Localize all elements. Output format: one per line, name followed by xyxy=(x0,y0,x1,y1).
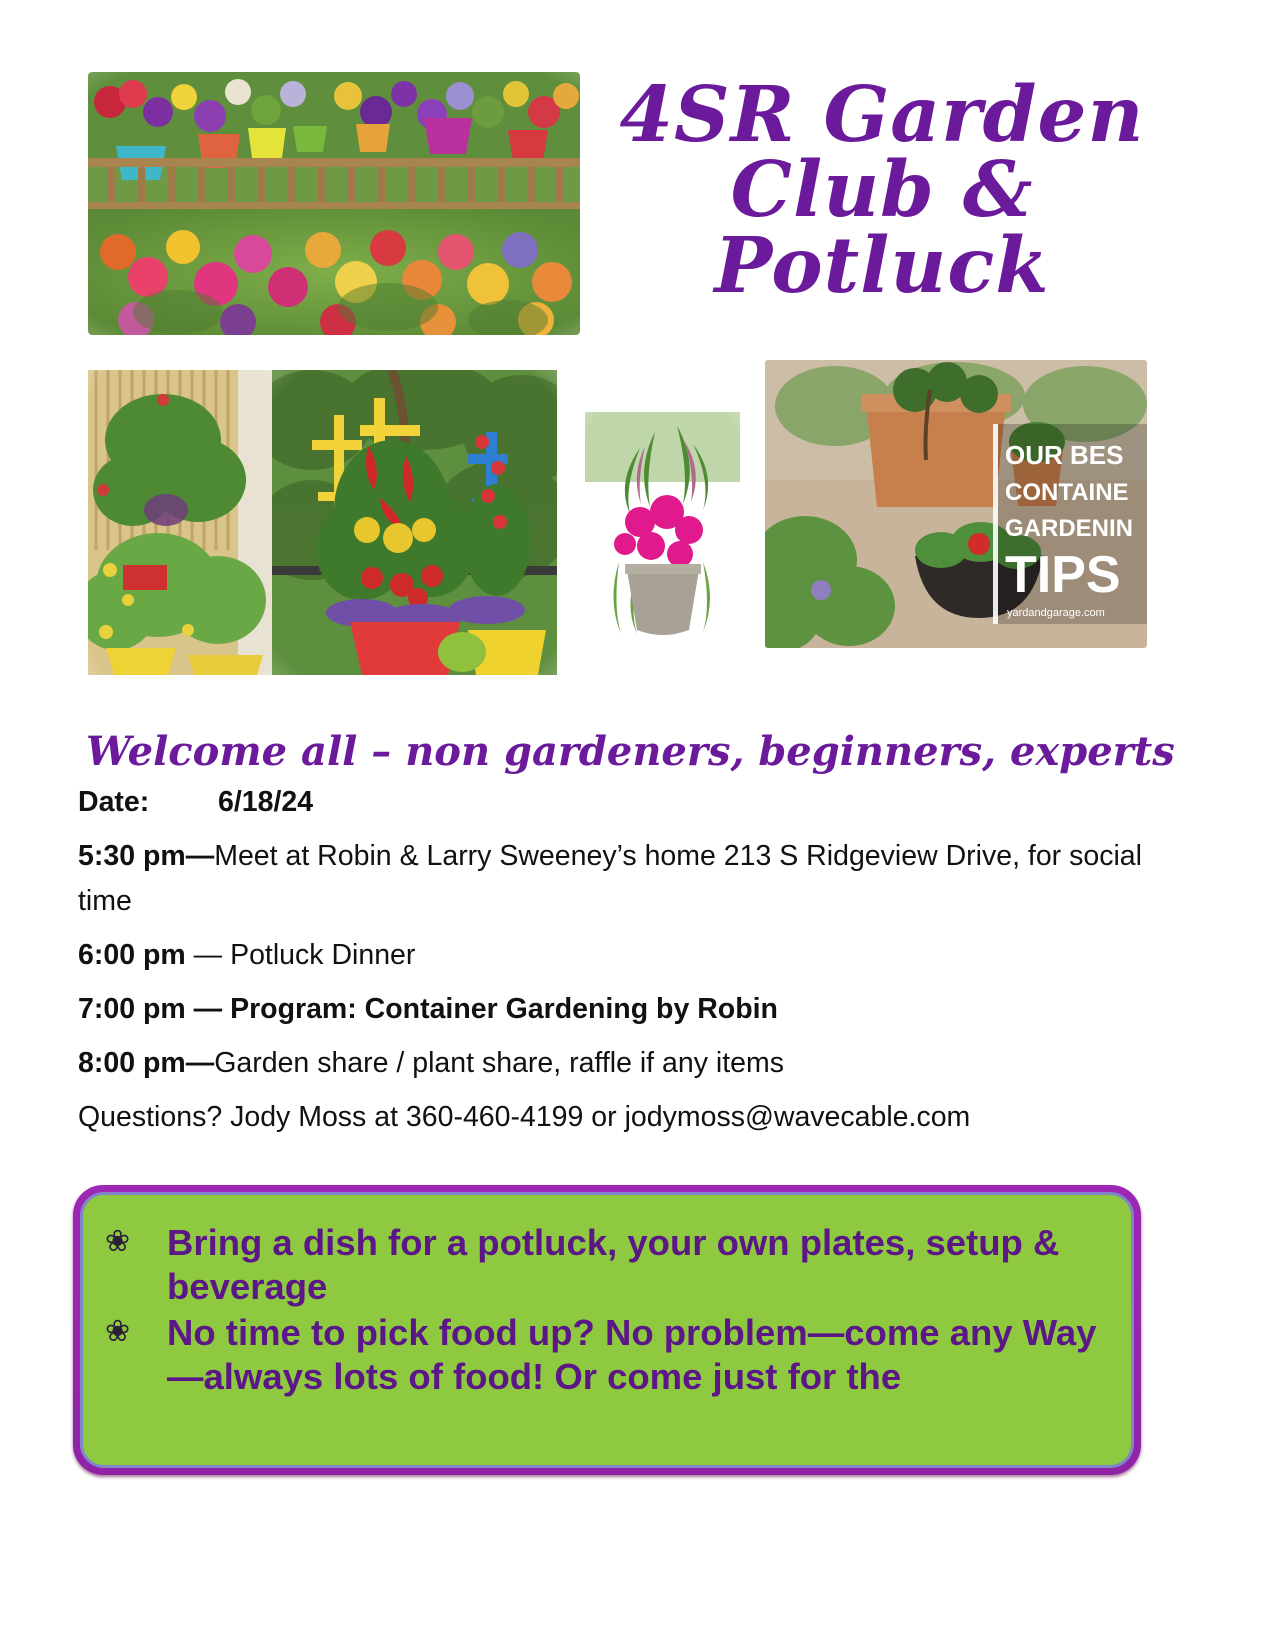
questions-line: Questions? Jody Moss at 360-460-4199 or … xyxy=(78,1095,1153,1140)
flower-bullet-icon: ❀ xyxy=(105,1311,167,1347)
photo-pink-impatiens-pot xyxy=(585,412,740,647)
schedule-time-1: 6:00 pm xyxy=(78,939,186,971)
schedule-time-2: 7:00 pm xyxy=(78,993,186,1025)
callout-box: ❀ Bring a dish for a potluck, your own p… xyxy=(73,1185,1141,1475)
schedule-item-2: 7:00 pm — Program: Container Gardening b… xyxy=(78,987,1153,1032)
flyer-page: 4SR Garden Club & Potluck xyxy=(0,0,1275,1650)
welcome-line: Welcome all – non gardeners, beginners, … xyxy=(86,728,1156,775)
svg-text:yardandgarage.com: yardandgarage.com xyxy=(1007,607,1105,619)
callout-text-1: No time to pick food up? No problem—come… xyxy=(167,1311,1109,1399)
schedule-time-0: 5:30 pm xyxy=(78,840,186,872)
schedule-text-1: Potluck Dinner xyxy=(230,939,415,971)
photo-pepper-art xyxy=(272,370,557,675)
photo-tips-art: OUR BES CONTAINE GARDENIN TIPS yardandga… xyxy=(765,360,1147,648)
schedule-dash-0: — xyxy=(186,840,215,872)
schedule-text-2: Program: Container Gardening by Robin xyxy=(230,993,778,1025)
date-row: Date:6/18/24 xyxy=(78,780,1153,825)
photo-pepper-trellis xyxy=(272,370,557,675)
schedule-dash-3: — xyxy=(186,1047,215,1079)
svg-text:OUR BES: OUR BES xyxy=(1005,440,1123,470)
title-line-1: 4SR Garden xyxy=(612,78,1152,153)
title-line-2: Club & xyxy=(612,153,1152,228)
photo-gallery-row: OUR BES CONTAINE GARDENIN TIPS yardandga… xyxy=(0,360,1275,680)
date-label: Date: xyxy=(78,780,218,825)
photo-container-gardening-tips: OUR BES CONTAINE GARDENIN TIPS yardandga… xyxy=(765,360,1147,648)
title-line-3: Potluck xyxy=(612,229,1152,304)
schedule-item-1: 6:00 pm — Potluck Dinner xyxy=(78,933,1153,978)
callout-inner: ❀ Bring a dish for a potluck, your own p… xyxy=(80,1192,1134,1468)
photo-impatiens-art xyxy=(585,412,740,647)
flyer-title: 4SR Garden Club & Potluck xyxy=(612,78,1152,304)
svg-text:TIPS: TIPS xyxy=(1005,546,1121,604)
svg-text:CONTAINE: CONTAINE xyxy=(1005,479,1129,506)
svg-text:GARDENIN: GARDENIN xyxy=(1005,515,1133,542)
schedule-time-3: 8:00 pm xyxy=(78,1047,186,1079)
photo-herb-art xyxy=(88,370,278,675)
schedule-dash-2: — xyxy=(186,993,230,1025)
callout-text-0: Bring a dish for a potluck, your own pla… xyxy=(167,1221,1109,1309)
callout-item-1: ❀ No time to pick food up? No problem—co… xyxy=(105,1311,1109,1399)
callout-item-0: ❀ Bring a dish for a potluck, your own p… xyxy=(105,1221,1109,1309)
schedule-item-3: 8:00 pm—Garden share / plant share, raff… xyxy=(78,1041,1153,1086)
schedule-text-3: Garden share / plant share, raffle if an… xyxy=(214,1047,784,1079)
flower-bullet-icon: ❀ xyxy=(105,1221,167,1257)
schedule-dash-1: — xyxy=(186,939,230,971)
schedule-item-0: 5:30 pm—Meet at Robin & Larry Sweeney’s … xyxy=(78,834,1153,924)
schedule-text-0: Meet at Robin & Larry Sweeney’s home 213… xyxy=(78,840,1142,917)
photo-herb-container-bamboo xyxy=(88,370,278,675)
hero-photo-deck-containers xyxy=(88,72,580,335)
date-value: 6/18/24 xyxy=(218,786,313,818)
event-details: Date:6/18/24 5:30 pm—Meet at Robin & Lar… xyxy=(78,780,1153,1149)
hero-photo-art xyxy=(88,72,580,335)
